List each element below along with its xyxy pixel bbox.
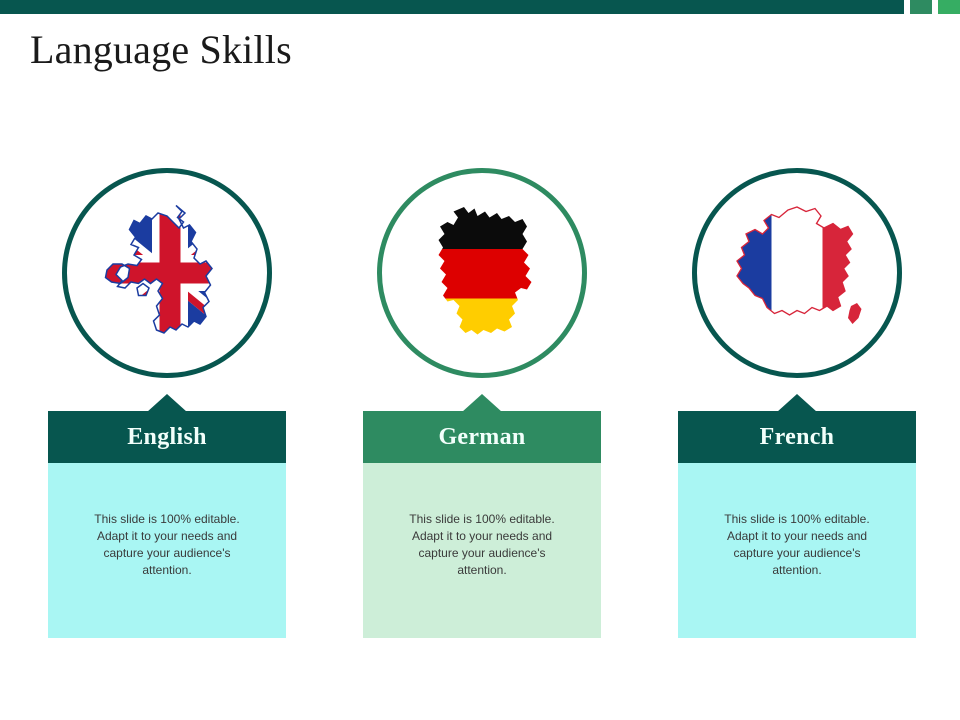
info-card-french: French This slide is 100% editable. Adap…	[678, 411, 916, 638]
page-title: Language Skills	[30, 26, 292, 73]
body-text-english: This slide is 100% editable. Adapt it to…	[87, 511, 247, 579]
banner-english[interactable]: English	[48, 411, 286, 463]
circle-badge-german	[377, 168, 587, 378]
top-accent-square-2	[938, 0, 960, 14]
language-columns: English This slide is 100% editable. Ada…	[0, 168, 960, 668]
info-card-german: German This slide is 100% editable. Adap…	[363, 411, 601, 638]
body-box-english: This slide is 100% editable. Adapt it to…	[48, 463, 286, 638]
language-column-german[interactable]: German This slide is 100% editable. Adap…	[363, 168, 601, 638]
banner-label-french: French	[760, 424, 835, 451]
top-accent-square-1	[910, 0, 932, 14]
uk-flag-map-icon	[92, 198, 242, 348]
top-accent-bar-main	[0, 0, 904, 14]
body-text-french: This slide is 100% editable. Adapt it to…	[722, 511, 872, 579]
info-card-english: English This slide is 100% editable. Ada…	[48, 411, 286, 638]
top-accent-bar	[0, 0, 960, 14]
body-box-german: This slide is 100% editable. Adapt it to…	[363, 463, 601, 638]
body-text-german: This slide is 100% editable. Adapt it to…	[407, 511, 557, 579]
banner-french[interactable]: French	[678, 411, 916, 463]
language-column-english[interactable]: English This slide is 100% editable. Ada…	[48, 168, 286, 638]
circle-badge-french	[692, 168, 902, 378]
slide-canvas: Language Skills	[0, 0, 960, 720]
banner-german[interactable]: German	[363, 411, 601, 463]
pointer-notch-french	[777, 394, 817, 412]
body-box-french: This slide is 100% editable. Adapt it to…	[678, 463, 916, 638]
pointer-notch-english	[147, 394, 187, 412]
circle-badge-english	[62, 168, 272, 378]
pointer-notch-german	[462, 394, 502, 412]
banner-label-english: English	[127, 424, 206, 451]
language-column-french[interactable]: French This slide is 100% editable. Adap…	[678, 168, 916, 638]
germany-flag-map-icon	[407, 198, 557, 348]
france-flag-map-icon	[722, 198, 872, 348]
banner-label-german: German	[438, 424, 525, 451]
